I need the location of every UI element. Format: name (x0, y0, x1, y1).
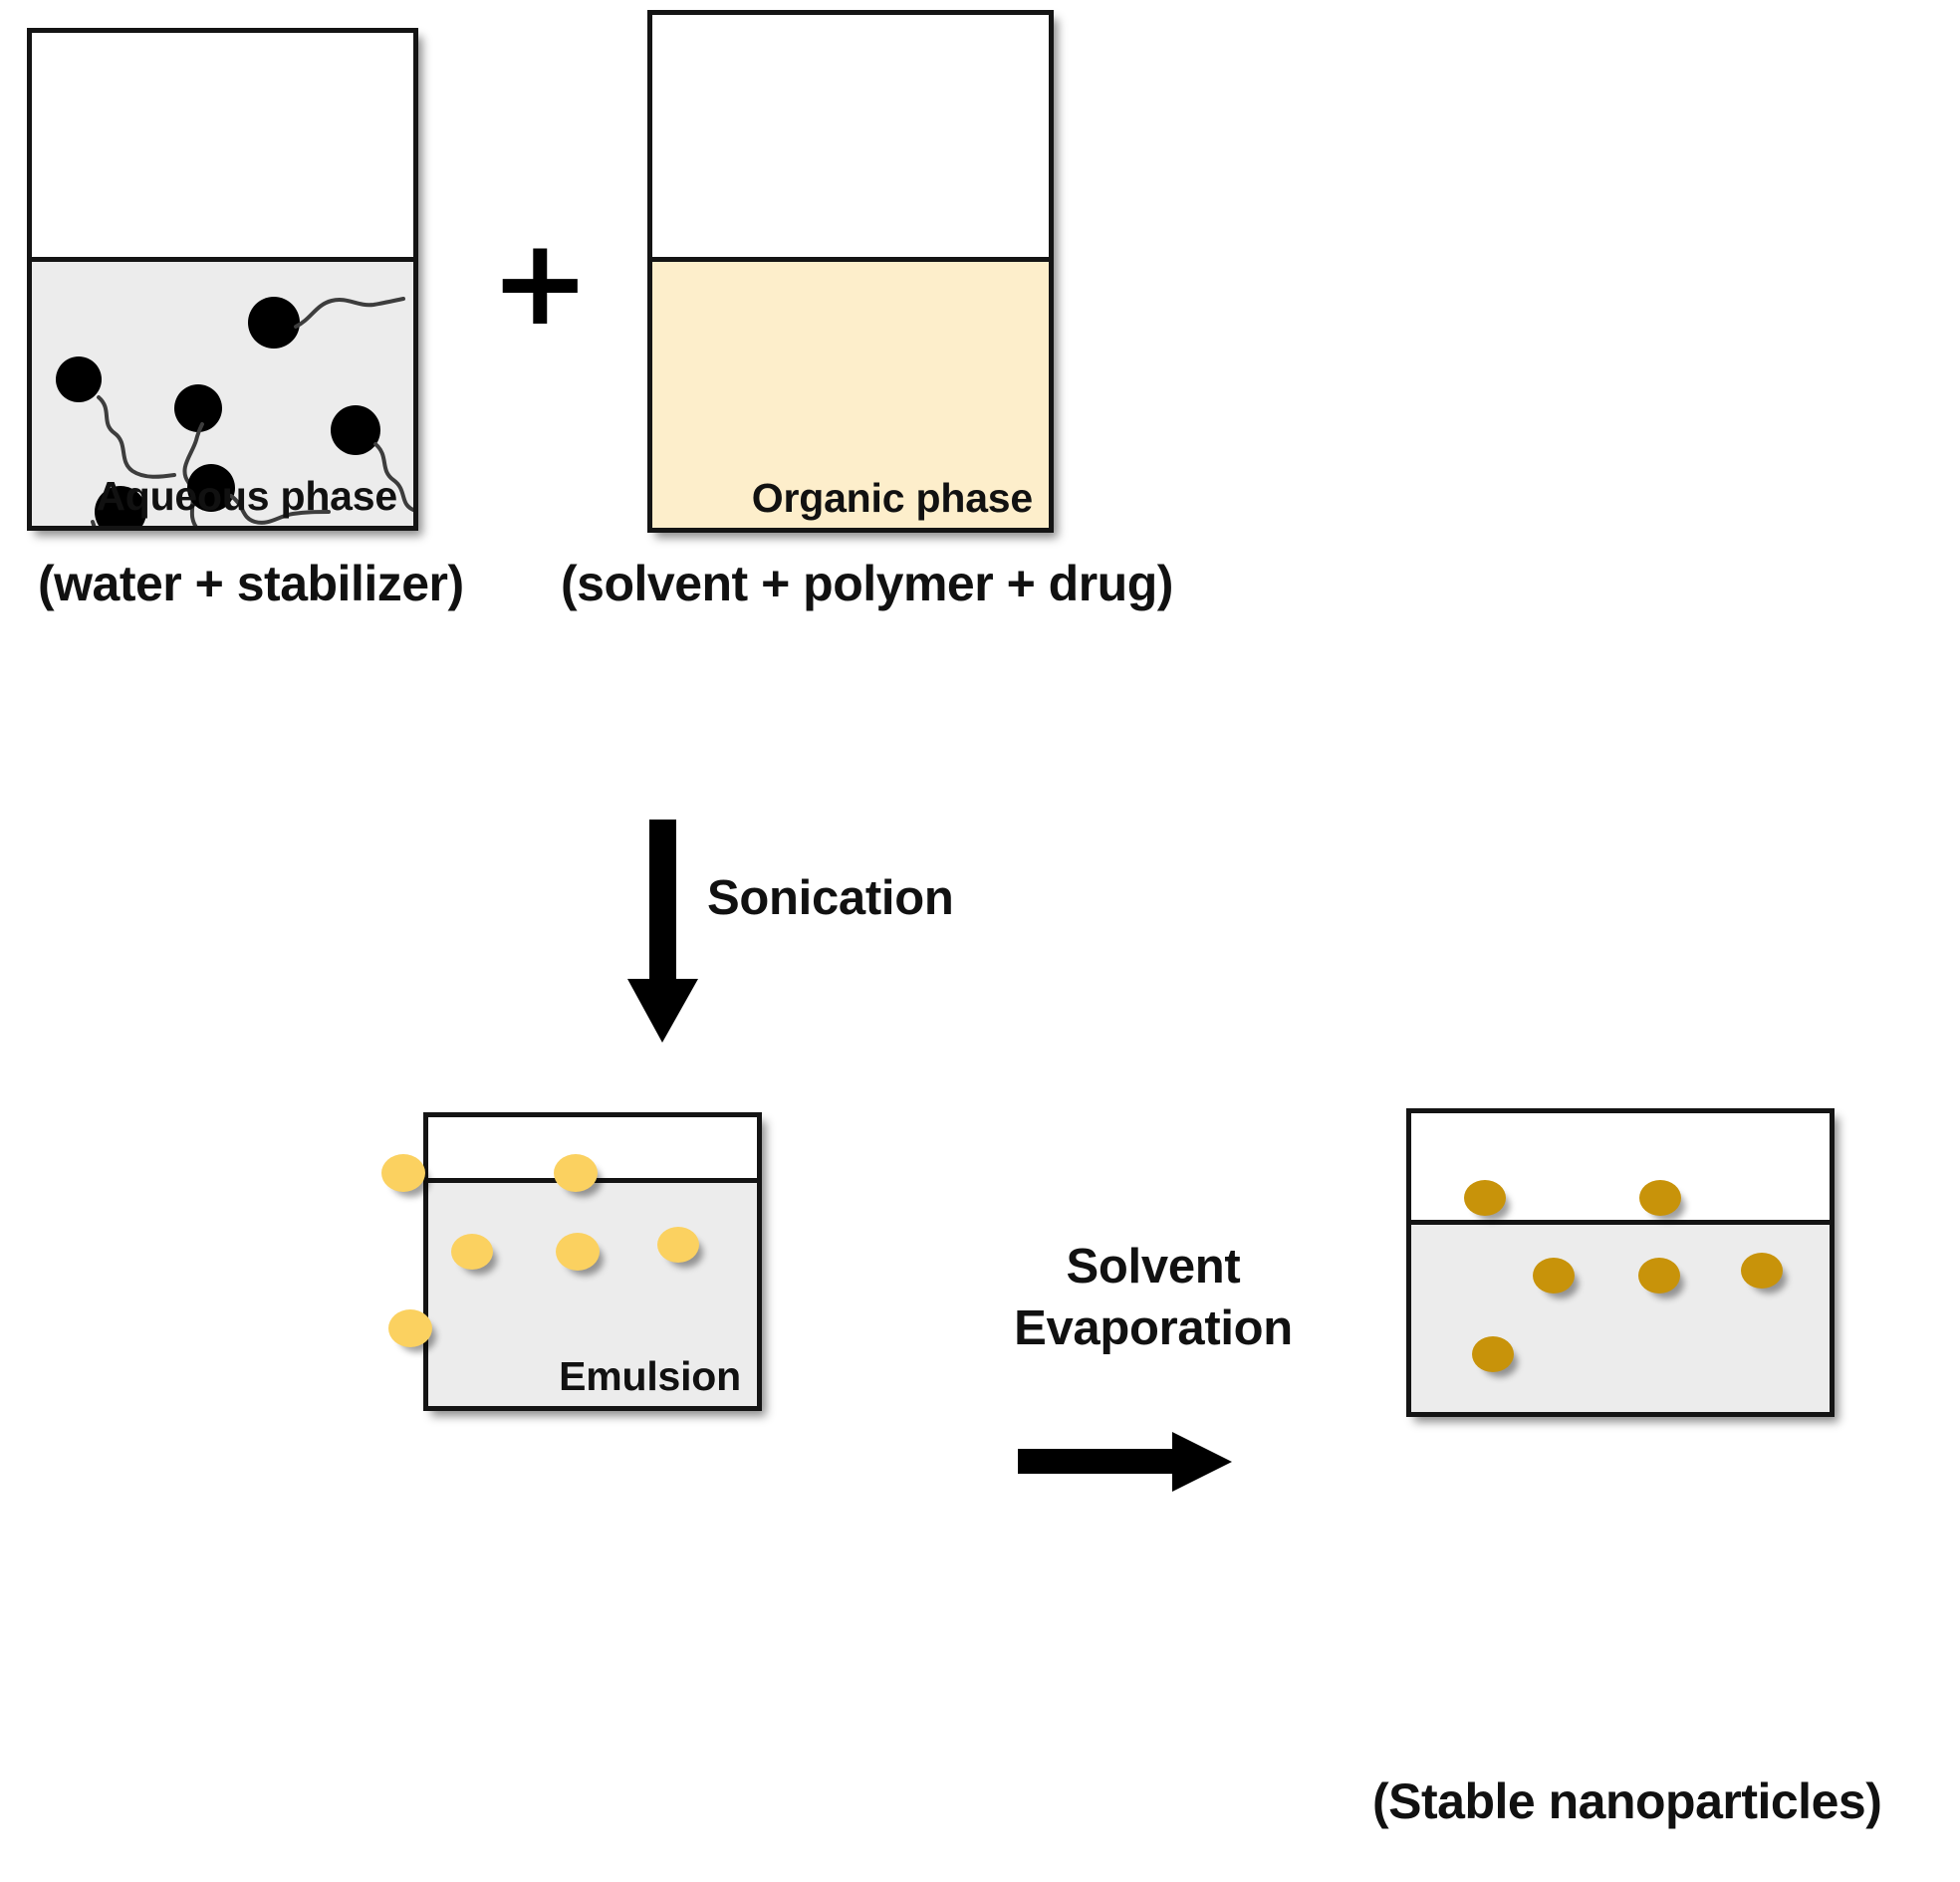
nanoparticles-beaker-caption: (Stable nanoparticles) (1372, 1772, 1881, 1830)
nanoparticle (1639, 1180, 1681, 1216)
emulsion-droplet (388, 1309, 432, 1347)
organic-phase-label: Organic phase (752, 475, 1033, 522)
nanoparticle (1638, 1258, 1680, 1294)
evaporation-step-label-line2: Evaporation (1009, 1299, 1298, 1359)
beaker-emulsion-liquid: Emulsion (428, 1183, 757, 1406)
emulsion-droplet (451, 1234, 493, 1270)
sonication-arrow-icon (619, 820, 709, 1049)
evaporation-step-label-line1: Solvent (1009, 1238, 1298, 1297)
emulsion-droplet (554, 1154, 598, 1192)
nanoparticle (1741, 1253, 1783, 1289)
nanoparticle (1464, 1180, 1506, 1216)
nanoparticle (1472, 1336, 1514, 1372)
nanoparticle (1533, 1258, 1575, 1294)
beaker-organic-headspace (652, 15, 1049, 257)
organic-beaker-caption: (solvent + polymer + drug) (561, 555, 1173, 612)
surfactant-tail-icon (274, 283, 413, 362)
emulsion-droplet (381, 1154, 425, 1192)
beaker-organic-liquid: Organic phase (652, 262, 1049, 528)
beaker-organic-phase: Organic phase (647, 10, 1054, 533)
emulsion-phase-label: Emulsion (559, 1353, 741, 1400)
sonication-step-label: Sonication (707, 869, 953, 929)
beaker-aqueous-liquid: Aqueous phase (32, 262, 413, 526)
aqueous-beaker-caption: (water + stabilizer) (38, 555, 464, 612)
beaker-aqueous-phase: Aqueous phase (27, 28, 418, 531)
aqueous-phase-label: Aqueous phase (96, 473, 397, 520)
emulsion-droplet (657, 1227, 699, 1263)
plus-operator-icon: + (490, 224, 591, 344)
evaporation-arrow-icon (1018, 1424, 1237, 1504)
beaker-aqueous-headspace (32, 33, 413, 257)
emulsion-droplet (556, 1233, 600, 1271)
